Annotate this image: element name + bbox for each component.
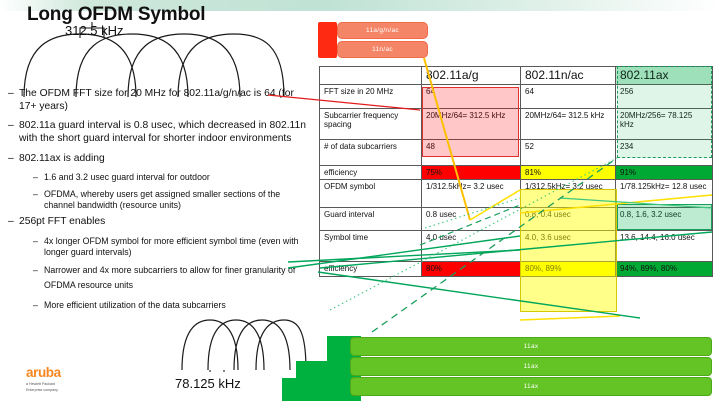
table-header-cell: 802.11a/g xyxy=(422,67,521,85)
cell-ax: 1/78.125kHz= 12.8 usec xyxy=(616,180,713,208)
bullet-item: 256pt FFT enables xyxy=(8,216,308,229)
row-label: FFT size in 20 MHz xyxy=(320,84,422,108)
cell-nac: 20MHz/64= 312.5 kHz xyxy=(521,108,616,139)
bullet-item: 802.11a guard interval is 0.8 usec, whic… xyxy=(8,120,308,146)
row-label: Subcarrier frequency spacing xyxy=(320,108,422,139)
row-label: Symbol time xyxy=(320,231,422,262)
legend-red-block xyxy=(318,22,337,58)
cell-nac: 4.0, 3.6 usec xyxy=(521,231,616,262)
cell-ax: 234 xyxy=(616,139,713,165)
cell-ax: 20MHz/256= 78.125 kHz xyxy=(616,108,713,139)
table-row: Guard interval 0.8 usec 0.8, 0.4 usec 0.… xyxy=(320,208,713,231)
slide-canvas: Long OFDM Symbol 312.5 kHz 78.125 kHz Th… xyxy=(0,0,719,401)
table-row-efficiency: efficiency 75% 81% 91% xyxy=(320,165,713,180)
subcarrier-spacing-label-bottom: 78.125 kHz xyxy=(175,376,241,391)
table-row: FFT size in 20 MHz 64 64 256 xyxy=(320,84,713,108)
cell-ag: 75% xyxy=(422,165,521,180)
cell-ag: 48 xyxy=(422,139,521,165)
bullet-subitem: OFDMA, whereby users get assigned smalle… xyxy=(33,189,308,212)
table-row: Subcarrier frequency spacing 20MHz/64= 3… xyxy=(320,108,713,139)
bullet-subitem: 4x longer OFDM symbol for more efficient… xyxy=(33,236,308,259)
row-label: efficiency xyxy=(320,165,422,180)
cell-nac: 64 xyxy=(521,84,616,108)
row-label: OFDM symbol xyxy=(320,180,422,208)
bullet-subitem: More efficient utilization of the data s… xyxy=(33,298,308,313)
row-label: Guard interval xyxy=(320,208,422,231)
cell-nac: 80%, 89% xyxy=(521,262,616,277)
cell-ax: 13.6, 14.4, 16.0 usec xyxy=(616,231,713,262)
table-header-cell: 802.11n/ac xyxy=(521,67,616,85)
cell-ag: 4.0 usec xyxy=(422,231,521,262)
ofdm-subcarrier-diagram-narrow xyxy=(178,312,308,372)
cell-nac: 52 xyxy=(521,139,616,165)
bullet-item: The OFDM FFT size for 20 MHz for 802.11a… xyxy=(8,88,308,114)
cell-ax: 91% xyxy=(616,165,713,180)
row-label: # of data subcarriers xyxy=(320,139,422,165)
bar-11ax-3: 11ax xyxy=(350,377,712,396)
cell-ax: 256 xyxy=(616,84,713,108)
table-row: OFDM symbol 1/312.5kHz= 3.2 usec 1/312.5… xyxy=(320,180,713,208)
standards-comparison-table: 802.11a/g 802.11n/ac 802.11ax FFT size i… xyxy=(319,66,713,277)
subcarrier-spacing-label-top: 312.5 kHz xyxy=(65,23,124,38)
bar-11ax-2: 11ax xyxy=(350,357,712,376)
aruba-logo: aruba a Hewlett Packard Enterprise compa… xyxy=(26,366,98,392)
cell-ag: 20MHz/64= 312.5 kHz xyxy=(422,108,521,139)
cell-nac: 1/312.5kHz= 3.2 usec xyxy=(521,180,616,208)
ofdm-subcarrier-diagram-wide xyxy=(18,22,288,97)
cell-ag: 64 xyxy=(422,84,521,108)
cell-ax: 94%, 89%, 80% xyxy=(616,262,713,277)
legend-pill-11agnac: 11a/g/n/ac xyxy=(337,22,428,39)
logo-wordmark: aruba xyxy=(26,366,98,380)
bullet-item: 802.11ax is adding xyxy=(8,153,308,166)
row-label: efficiency xyxy=(320,262,422,277)
table-header-row: 802.11a/g 802.11n/ac 802.11ax xyxy=(320,67,713,85)
table-row-efficiency: efficiency 80% 80%, 89% 94%, 89%, 80% xyxy=(320,262,713,277)
cell-nac: 81% xyxy=(521,165,616,180)
bullet-subitem: 1.6 and 3.2 usec guard interval for outd… xyxy=(33,172,308,183)
cell-ax: 0.8, 1.6, 3.2 usec xyxy=(616,208,713,231)
cell-ag: 1/312.5kHz= 3.2 usec xyxy=(422,180,521,208)
legend-pill-11nac: 11n/ac xyxy=(337,41,428,58)
cell-nac: 0.8, 0.4 usec xyxy=(521,208,616,231)
bullet-subitem: Narrower and 4x more subcarriers to allo… xyxy=(33,263,308,293)
cell-ag: 80% xyxy=(422,262,521,277)
bar-11ax-1: 11ax xyxy=(350,337,712,356)
table-header-cell: 802.11ax xyxy=(616,67,713,85)
logo-subtitle-line1: a Hewlett Packard xyxy=(26,382,98,386)
table-row: Symbol time 4.0 usec 4.0, 3.6 usec 13.6,… xyxy=(320,231,713,262)
table-row: # of data subcarriers 48 52 234 xyxy=(320,139,713,165)
table-header-cell xyxy=(320,67,422,85)
logo-subtitle-line2: Enterprise company xyxy=(26,388,98,392)
bullet-list: The OFDM FFT size for 20 MHz for 802.11a… xyxy=(8,88,308,318)
cell-ag: 0.8 usec xyxy=(422,208,521,231)
